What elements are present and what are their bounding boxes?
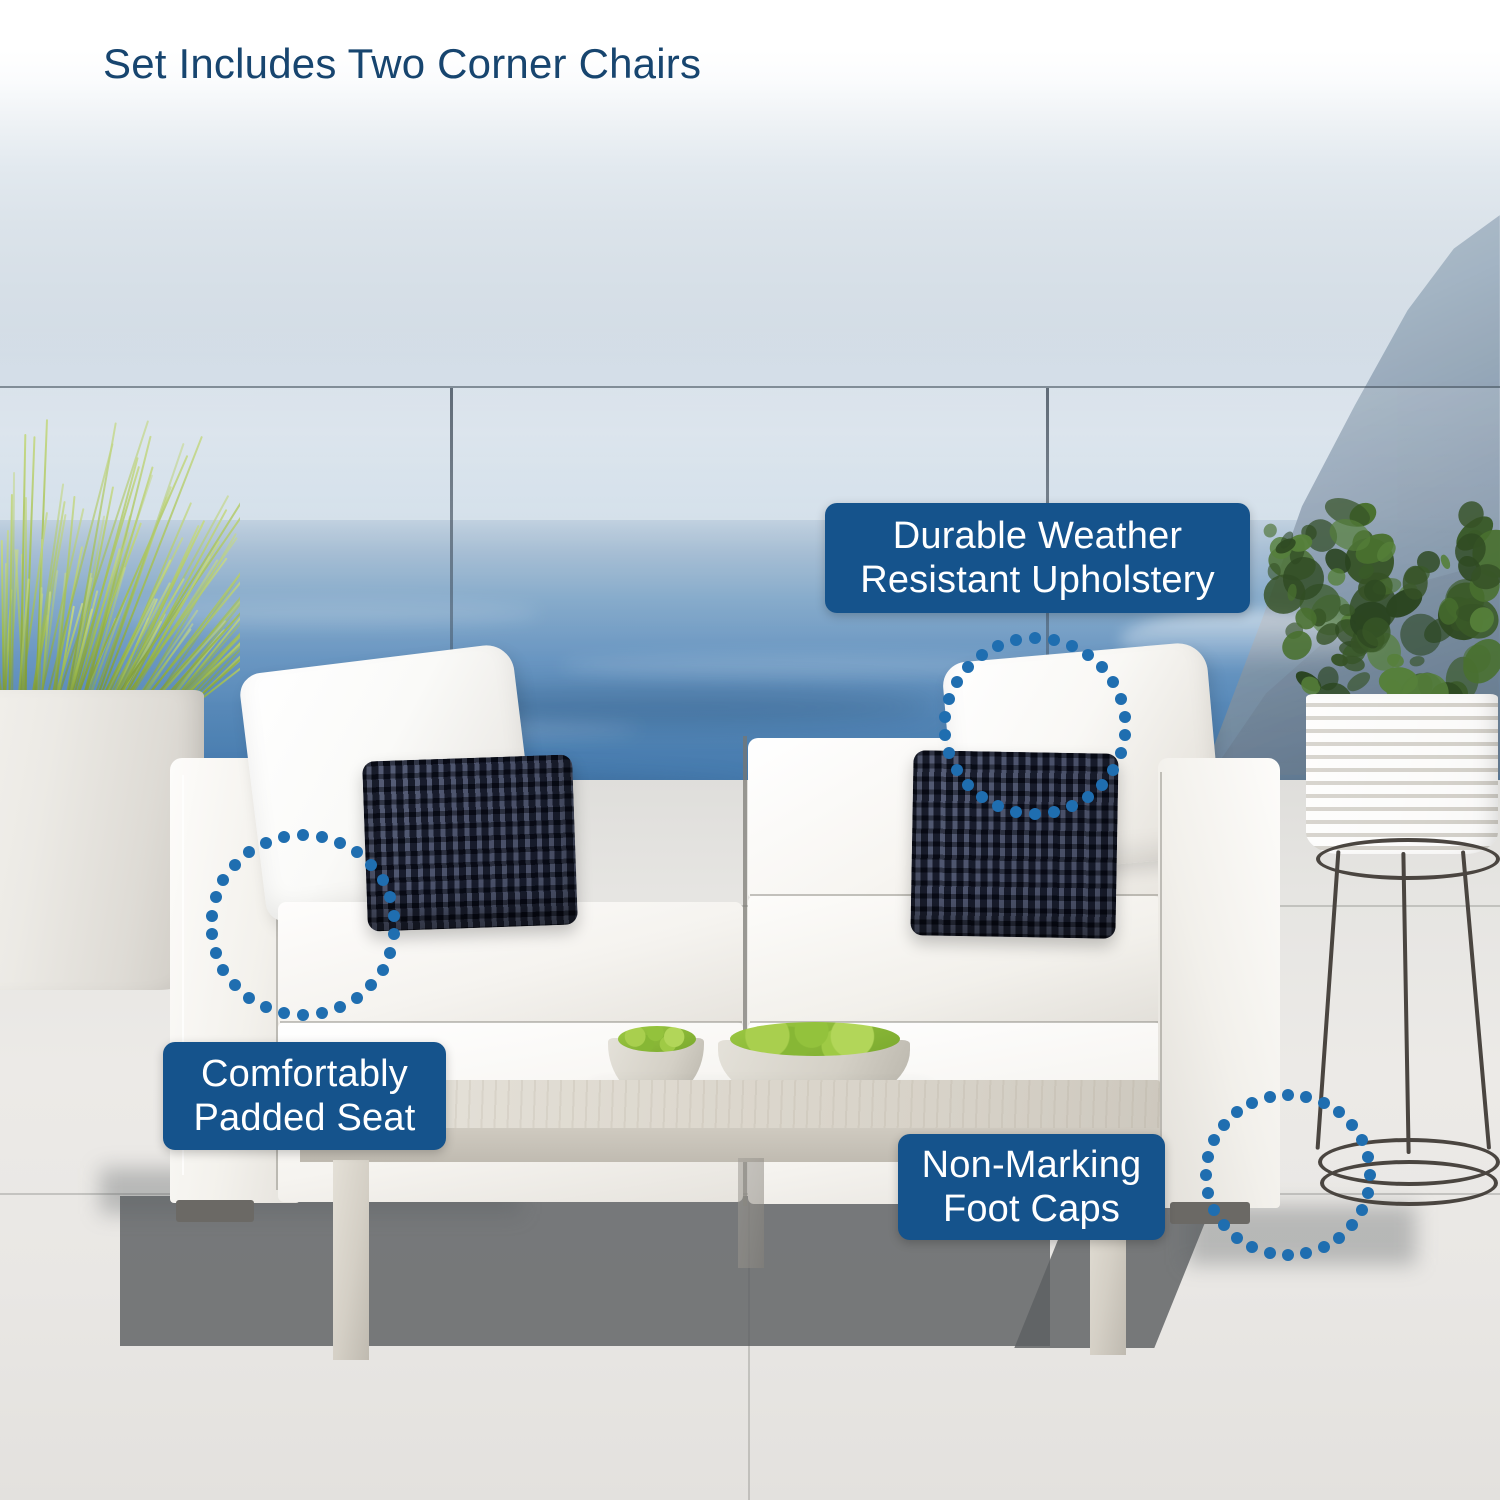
potted-shrub-foliage (1258, 500, 1500, 715)
shrub-foliage-cluster (1439, 553, 1452, 570)
marker-dot (951, 676, 963, 688)
marker-dot (943, 693, 955, 705)
marker-dot (1048, 634, 1060, 646)
marker-dot (1119, 729, 1131, 741)
marker-dot (962, 661, 974, 673)
marker-dot (1082, 649, 1094, 661)
marker-dot (1364, 1169, 1376, 1181)
marker-dot (229, 979, 241, 991)
marker-dot (1208, 1204, 1220, 1216)
callout-badge-comfortably-padded-seat: Comfortably Padded Seat (163, 1042, 446, 1150)
callout-line-1: Comfortably (201, 1052, 408, 1096)
marker-dot (1066, 800, 1078, 812)
marker-dot (1096, 661, 1108, 673)
marker-dot (939, 729, 951, 741)
marker-dot (384, 891, 396, 903)
right-planter-pot (1306, 694, 1498, 854)
marker-dot (1082, 791, 1094, 803)
marker-dot (1300, 1247, 1312, 1259)
marker-dot (206, 928, 218, 940)
marker-dot (1010, 806, 1022, 818)
callout-badge-non-marking-foot-caps: Non-Marking Foot Caps (898, 1134, 1165, 1240)
marker-dot (1202, 1187, 1214, 1199)
marker-dot (1246, 1097, 1258, 1109)
coffee-table-leg-front-left (333, 1160, 369, 1360)
marker-dot (243, 846, 255, 858)
marker-dot (1218, 1219, 1230, 1231)
callout-line-1: Durable Weather (893, 514, 1183, 558)
marker-dot (1264, 1091, 1276, 1103)
marker-dot (1115, 747, 1127, 759)
marker-dot (1346, 1119, 1358, 1131)
marker-dot (334, 1001, 346, 1013)
callout-line-1: Non-Marking (922, 1143, 1142, 1187)
marker-dot (1356, 1204, 1368, 1216)
marker-dot (388, 910, 400, 922)
marker-dot (210, 891, 222, 903)
large-bowl-moss (730, 1022, 900, 1056)
marker-dot (1231, 1106, 1243, 1118)
plant-stand-upper-ring (1316, 838, 1500, 880)
marker-dot (206, 910, 218, 922)
marker-dot (1066, 640, 1078, 652)
marker-dot (1231, 1232, 1243, 1244)
marker-dot (384, 947, 396, 959)
marker-dot (278, 1007, 290, 1019)
callout-line-2: Resistant Upholstery (860, 558, 1215, 602)
marker-dot (1362, 1187, 1374, 1199)
marker-dot (334, 837, 346, 849)
marker-dot (388, 928, 400, 940)
marker-dot (351, 992, 363, 1004)
coffee-table-leg-rear (738, 1158, 764, 1268)
marker-dot (1264, 1247, 1276, 1259)
marker-dot (377, 874, 389, 886)
marker-dot (377, 964, 389, 976)
marker-dot (976, 649, 988, 661)
marker-comfortably-padded-seat (203, 827, 403, 1023)
marker-dot (217, 874, 229, 886)
marker-dot (1010, 634, 1022, 646)
marker-dot (365, 979, 377, 991)
callout-line-2: Foot Caps (943, 1187, 1120, 1231)
shrub-foliage-cluster (1268, 562, 1281, 579)
page-title: Set Includes Two Corner Chairs (103, 40, 701, 88)
marker-dot (943, 747, 955, 759)
marker-dot (278, 831, 290, 843)
marker-dot (1029, 808, 1041, 820)
marker-dot (951, 764, 963, 776)
marker-dot (260, 1001, 272, 1013)
marker-dot (939, 711, 951, 723)
marker-dot (1119, 711, 1131, 723)
marker-dot (1115, 693, 1127, 705)
marker-dot (1333, 1232, 1345, 1244)
marker-dot (1346, 1219, 1358, 1231)
callout-line-2: Padded Seat (194, 1096, 416, 1140)
marker-dot (1048, 806, 1060, 818)
product-feature-image: Set Includes Two Corner Chairs Durable W… (0, 0, 1500, 1500)
callout-badge-durable-weather-resistant-upholstery: Durable Weather Resistant Upholstery (825, 503, 1250, 613)
marker-dot (243, 992, 255, 1004)
shrub-foliage-cluster (1402, 565, 1428, 600)
marker-dot (992, 800, 1004, 812)
marker-dot (1246, 1241, 1258, 1253)
marker-dot (229, 859, 241, 871)
marker-dot (1356, 1134, 1368, 1146)
marker-dot (992, 640, 1004, 652)
marker-dot (1200, 1169, 1212, 1181)
marker-dot (1107, 676, 1119, 688)
marker-durable-weather-resistant-upholstery (937, 630, 1133, 822)
marker-dot (297, 1009, 309, 1021)
shrub-foliage-cluster (1277, 625, 1318, 665)
marker-dot (1362, 1151, 1374, 1163)
marker-dot (260, 837, 272, 849)
marker-dot (1333, 1106, 1345, 1118)
marker-dot (1300, 1091, 1312, 1103)
photo-scene (0, 0, 1500, 1500)
marker-dot (1318, 1241, 1330, 1253)
marker-dot (1107, 764, 1119, 776)
marker-dot (1282, 1249, 1294, 1261)
shrub-foliage-cluster (1410, 654, 1426, 667)
marker-dot (316, 831, 328, 843)
marker-dot (351, 846, 363, 858)
marker-dot (297, 829, 309, 841)
marker-dot (962, 779, 974, 791)
marker-dot (1096, 779, 1108, 791)
marker-dot (1208, 1134, 1220, 1146)
marker-dot (210, 947, 222, 959)
arm-seam (1160, 772, 1162, 1196)
marker-dot (217, 964, 229, 976)
marker-non-marking-foot-caps (1198, 1087, 1378, 1263)
marker-dot (316, 1007, 328, 1019)
marker-dot (1218, 1119, 1230, 1131)
foot-cap-left (176, 1200, 254, 1222)
marker-dot (1202, 1151, 1214, 1163)
small-bowl-moss (618, 1026, 696, 1052)
marker-dot (1029, 632, 1041, 644)
marker-dot (365, 859, 377, 871)
marker-dot (1318, 1097, 1330, 1109)
marker-dot (1282, 1089, 1294, 1101)
marker-dot (976, 791, 988, 803)
